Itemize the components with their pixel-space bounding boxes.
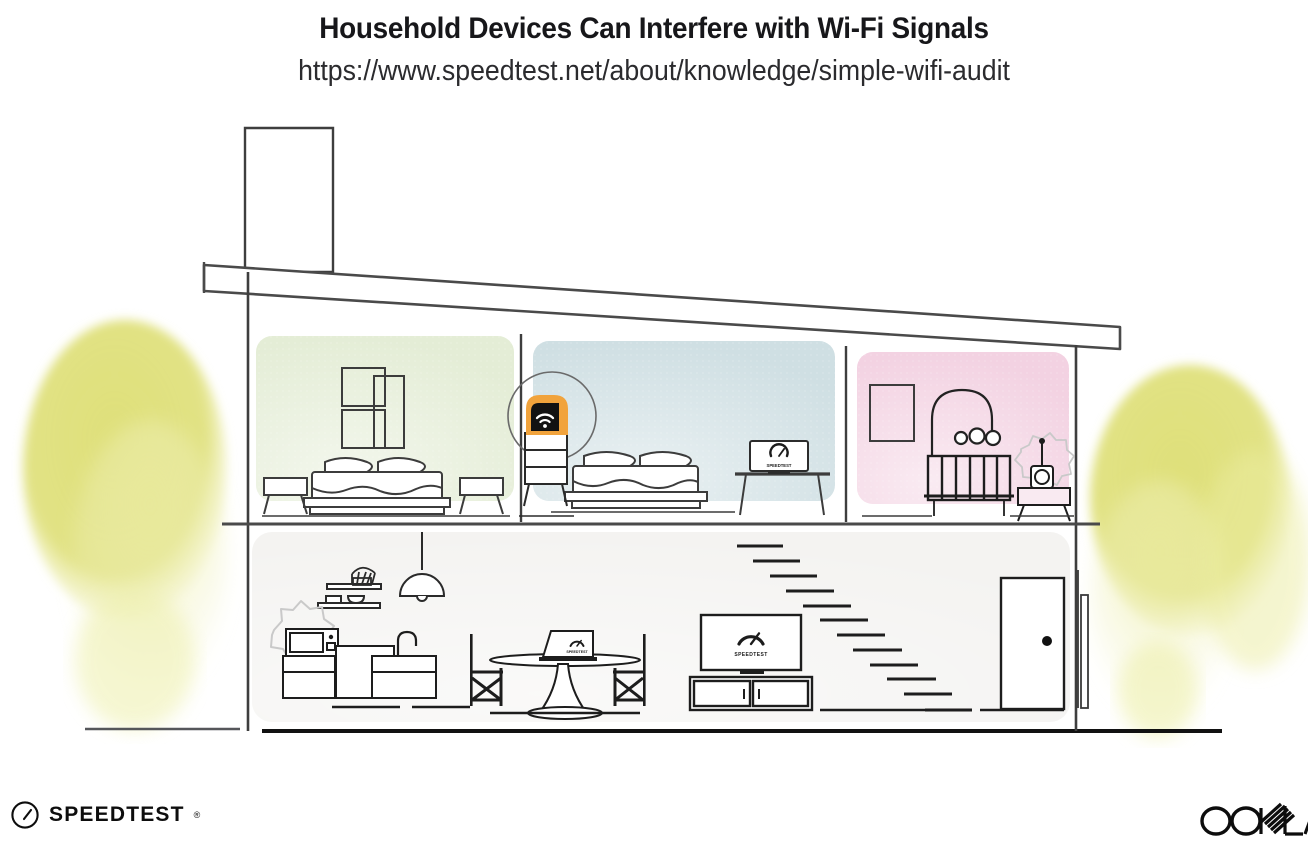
ookla-logo: ™ bbox=[1199, 795, 1308, 848]
speedtest-logo: SPEEDTEST ® bbox=[10, 800, 200, 830]
ookla-wordmark-icon: ™ bbox=[1199, 795, 1308, 843]
nightstand-right bbox=[460, 478, 503, 514]
monitor-screen-label: SPEEDTEST bbox=[767, 463, 792, 468]
nightstand-left bbox=[264, 478, 307, 514]
laptop-screen-label: SPEEDTEST bbox=[566, 650, 588, 654]
monitor-blue: SPEEDTEST bbox=[750, 441, 808, 474]
tree-left bbox=[23, 320, 228, 730]
bed-base bbox=[565, 492, 707, 501]
speedtest-trademark: ® bbox=[194, 810, 201, 820]
shelf-unit-router bbox=[519, 433, 574, 516]
wifi-router[interactable] bbox=[527, 396, 567, 434]
microwave bbox=[286, 629, 338, 656]
speedtest-gauge-icon bbox=[10, 800, 40, 830]
bed-base bbox=[304, 498, 450, 507]
door-knob bbox=[1042, 636, 1052, 646]
bed-base-lower bbox=[572, 501, 700, 508]
bed-base-lower bbox=[310, 507, 444, 514]
chimney bbox=[245, 128, 333, 272]
room-nursery-pink bbox=[857, 352, 1074, 521]
tree-right bbox=[1090, 365, 1308, 738]
door-side-panel bbox=[1078, 570, 1088, 708]
television[interactable]: SPEEDTEST bbox=[701, 615, 801, 674]
roof bbox=[204, 262, 1120, 349]
poster-canvas: Household Devices Can Interfere with Wi-… bbox=[0, 0, 1308, 861]
media-console bbox=[690, 677, 812, 710]
house-illustration: SPEEDTEST bbox=[0, 0, 1308, 861]
room-bedroom-green bbox=[256, 336, 514, 516]
speedtest-wordmark: SPEEDTEST bbox=[49, 803, 185, 827]
room-bedroom-blue: SPEEDTEST bbox=[533, 341, 835, 515]
tv-screen-label: SPEEDTEST bbox=[734, 652, 767, 658]
